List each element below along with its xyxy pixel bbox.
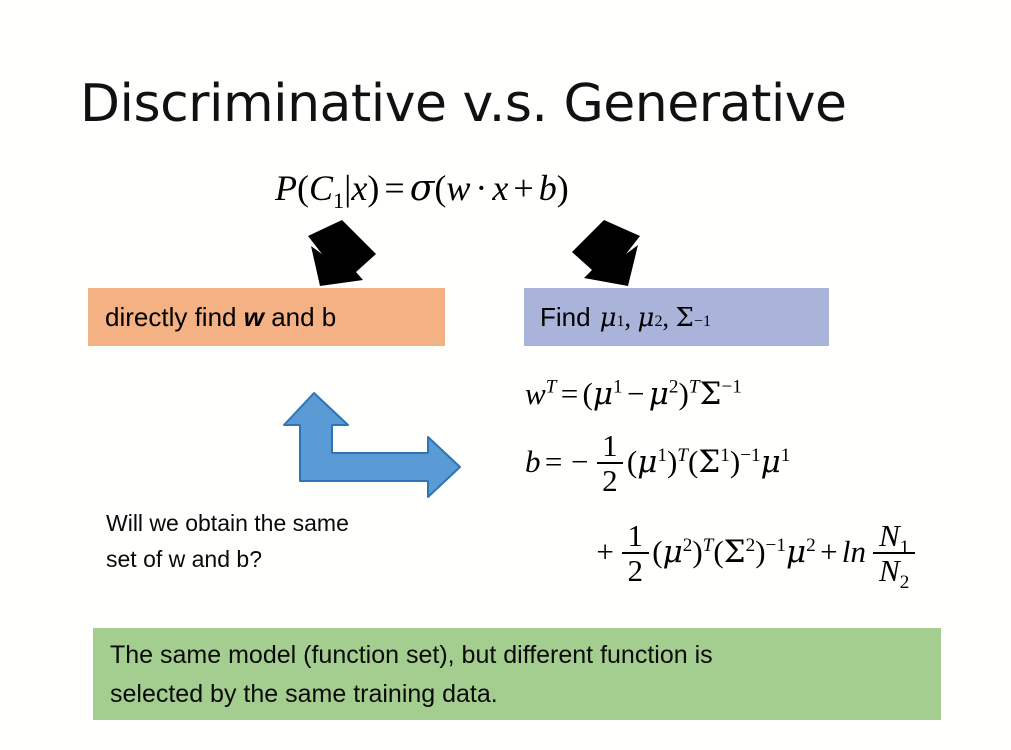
- eqb1-close-paren1: ): [667, 444, 677, 479]
- eqb2-mu-sup: 2: [683, 535, 693, 556]
- eqb2-sup-T: T: [703, 535, 714, 556]
- bent-double-arrow-icon: [276, 383, 466, 508]
- eqb2-half-fraction: 1 2: [622, 520, 649, 586]
- eqw-sup-T: T: [546, 377, 557, 398]
- eqw-mu2: μ: [649, 376, 669, 412]
- eqb1-equals: =: [541, 444, 567, 479]
- eqb1-b: b: [525, 444, 541, 479]
- conclusion-callout-box: The same model (function set), but diffe…: [93, 628, 941, 720]
- eqb2-n-den-symbol: N: [879, 553, 900, 588]
- discriminative-label: directly find w and b: [105, 302, 336, 333]
- eqb1-mu: μ: [637, 444, 657, 480]
- eqb2-plus2: +: [816, 534, 842, 569]
- eqb2-ln: ln: [842, 534, 870, 569]
- formula-open-paren: (: [297, 168, 309, 208]
- eqb2-open-paren1: (: [652, 534, 662, 569]
- formula-rhs-open-paren: (: [434, 168, 446, 208]
- generative-label: Findμ1, μ2, Σ−1: [540, 304, 711, 331]
- eqw-mu1: μ: [593, 376, 613, 412]
- generative-comma2: ,: [663, 305, 670, 331]
- eqb1-sigma: Σ: [698, 444, 720, 480]
- eqb1-mu-tail-sup: 1: [781, 445, 791, 466]
- eqb1-sup-T: T: [677, 445, 688, 466]
- eqb1-mu-tail: μ: [761, 444, 781, 480]
- equation-b-line2: + 1 2 (μ2)T(Σ2)−1μ2+ln N1 N2: [592, 522, 919, 588]
- eqb2-sigma: Σ: [724, 534, 746, 570]
- page-title: Discriminative v.s. Generative: [80, 74, 847, 134]
- discriminative-callout-box: directly find w and b: [88, 288, 445, 346]
- eqw-minus: −: [623, 376, 649, 411]
- generative-prefix: Find: [540, 304, 591, 330]
- posterior-formula: P(C1|x)=σ(w·x+b): [275, 170, 569, 207]
- eqb2-sigma-sup: 2: [746, 535, 756, 556]
- eqb2-close-paren1: ): [692, 534, 702, 569]
- discriminative-text-before: directly find: [105, 302, 244, 332]
- question-text: Will we obtain the same set of w and b?: [106, 505, 466, 577]
- eqb1-open-paren2: (: [688, 444, 698, 479]
- eqw-sigma: Σ: [700, 376, 722, 412]
- eqb1-half-fraction: 1 2: [597, 430, 624, 496]
- eqb1-close-paren2: ): [730, 444, 740, 479]
- eqb1-frac-denominator: 2: [597, 464, 624, 496]
- eqw-close-sup-T: T: [689, 377, 700, 398]
- question-line1: Will we obtain the same: [106, 505, 466, 541]
- eqw-equals: =: [556, 376, 582, 411]
- eqb2-n-numerator: N1: [873, 520, 914, 554]
- eqw-mu2-sup: 2: [669, 377, 679, 398]
- question-line2: set of w and b?: [106, 541, 466, 577]
- eqb2-mu: μ: [663, 534, 683, 570]
- generative-comma1: ,: [625, 305, 632, 331]
- generative-mu1: μ: [600, 305, 617, 331]
- formula-x-var: x: [492, 168, 508, 208]
- eqb2-n-ratio-fraction: N1 N2: [873, 520, 914, 586]
- formula-close-paren: ): [367, 168, 379, 208]
- equation-b-line1: b=− 1 2 (μ1)T(Σ1)−1μ1: [525, 432, 790, 498]
- eqw-mu1-sup: 1: [613, 377, 623, 398]
- eqb2-open-paren2: (: [713, 534, 723, 569]
- generative-sigma: Σ: [676, 305, 694, 331]
- eqw-sigma-sup: −1: [721, 377, 741, 398]
- eqb1-mu-sup: 1: [657, 445, 667, 466]
- eqb2-inv-sup: −1: [766, 535, 786, 556]
- eqb2-plus1: +: [592, 534, 618, 569]
- formula-plus: +: [508, 168, 538, 208]
- formula-weight-var: w: [446, 168, 470, 208]
- formula-sigmoid-symbol: σ: [410, 168, 435, 209]
- discriminative-weight-var: w: [244, 302, 264, 332]
- eqb1-sigma-sup: 1: [720, 445, 730, 466]
- formula-class-index: 1: [333, 188, 344, 213]
- eqb2-mu-tail-sup: 2: [806, 535, 816, 556]
- generative-mu2: μ: [638, 305, 655, 331]
- formula-rhs-close-paren: ): [557, 168, 569, 208]
- eqb1-inv-sup: −1: [740, 445, 760, 466]
- eqb2-mu-tail: μ: [786, 534, 806, 570]
- eqw-w: w: [525, 376, 546, 411]
- eqb1-minus: −: [567, 444, 593, 479]
- formula-input-var: x: [351, 168, 367, 208]
- eqw-open-paren: (: [583, 376, 593, 411]
- conclusion-line1: The same model (function set), but diffe…: [110, 628, 941, 675]
- formula-dot-operator: ·: [470, 168, 492, 208]
- eqw-close-paren: ): [679, 376, 689, 411]
- discriminative-text-after: and b: [264, 302, 336, 332]
- formula-p: P: [275, 168, 297, 208]
- eqb1-open-paren1: (: [627, 444, 637, 479]
- down-right-arrow-icon: [566, 218, 666, 293]
- eqb2-close-paren2: ): [755, 534, 765, 569]
- eqb2-n-den-sub: 2: [900, 573, 910, 594]
- eqb2-n-denominator: N2: [873, 554, 914, 586]
- slide-canvas: Discriminative v.s. Generative P(C1|x)=σ…: [0, 0, 1011, 750]
- eqb2-n-num-symbol: N: [879, 518, 900, 553]
- formula-bias-var: b: [539, 168, 557, 208]
- eqb1-frac-numerator: 1: [597, 430, 624, 464]
- equation-w-transpose: wT=(μ1−μ2)TΣ−1: [525, 378, 742, 410]
- conclusion-line2: selected by the same training data.: [110, 675, 941, 714]
- down-left-arrow-icon: [284, 218, 384, 293]
- eqb2-frac-denominator: 2: [622, 554, 649, 586]
- formula-equals: =: [379, 168, 409, 208]
- eqb2-frac-numerator: 1: [622, 520, 649, 554]
- generative-callout-box: Findμ1, μ2, Σ−1: [524, 288, 829, 346]
- formula-class-symbol: C: [309, 168, 333, 208]
